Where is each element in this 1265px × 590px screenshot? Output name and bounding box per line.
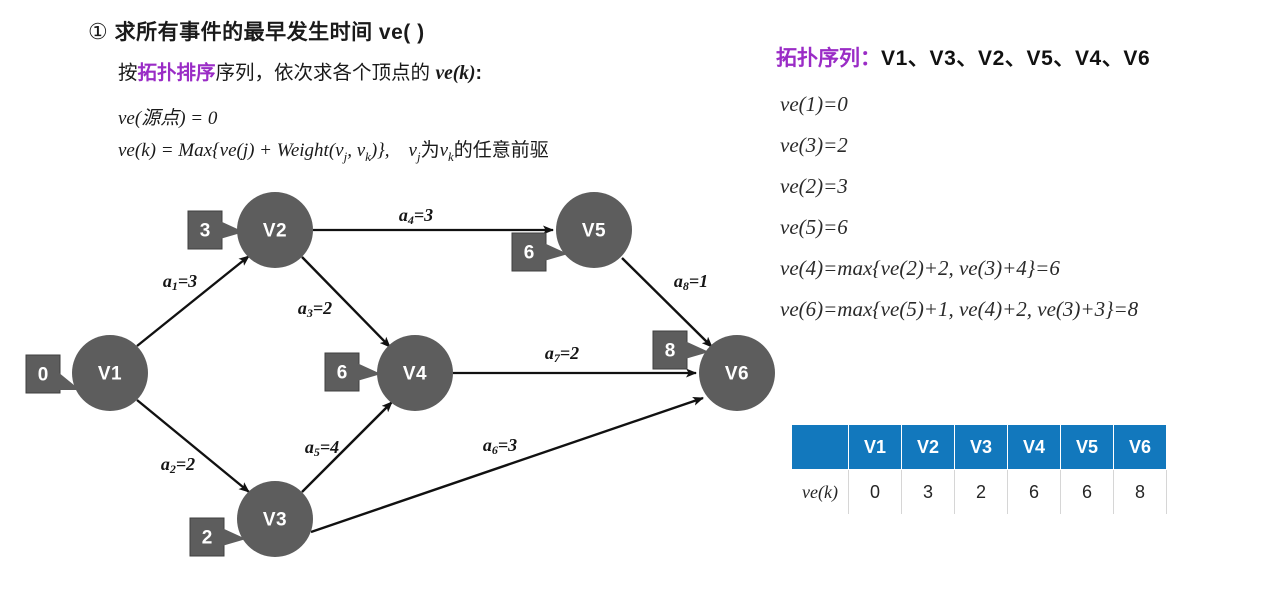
table-cell-ve-v6: 8 <box>1114 470 1167 515</box>
topological-sequence-value: V1、V3、V2、V5、V4、V6 <box>881 47 1150 70</box>
edge-a1 <box>137 256 249 346</box>
edge-label-a7: a7=2 <box>545 343 579 365</box>
graph-nodes: V1V2V3V4V5V6 <box>72 192 775 557</box>
table-cell-ve-v3: 2 <box>955 470 1008 515</box>
callout-v4: 6 <box>325 353 381 391</box>
node-label: V4 <box>403 364 427 385</box>
ve-step-6: ve(6)=max{ve(5)+1, ve(4)+2, ve(3)+3}=8 <box>780 297 1138 322</box>
ve-step-1: ve(1)=0 <box>780 92 848 117</box>
topological-sequence-line: 拓扑序列：V1、V3、V2、V5、V4、V6 <box>776 42 1150 72</box>
callout-v2: 3 <box>188 211 244 249</box>
edge-a2 <box>137 400 249 492</box>
aoe-network-graph: 032668 V1V2V3V4V5V6 a1=3a2=2a3=2a4=3a5=4… <box>0 0 790 590</box>
callout-value: 6 <box>337 363 348 384</box>
table-col-header-v6: V6 <box>1114 425 1167 470</box>
table-col-header-v4: V4 <box>1008 425 1061 470</box>
table-cell-ve-v2: 3 <box>902 470 955 515</box>
table-corner-cell <box>792 425 849 470</box>
graph-node-v4[interactable]: V4 <box>377 335 453 411</box>
node-label: V3 <box>263 510 287 531</box>
ve-values-table: V1V2V3V4V5V6 ve(k) 032668 <box>792 424 1167 514</box>
callout-v1: 0 <box>26 355 80 393</box>
edge-label-a5: a5=4 <box>305 437 339 459</box>
callout-value: 3 <box>200 221 211 242</box>
table-col-header-v5: V5 <box>1061 425 1114 470</box>
callout-value: 8 <box>665 341 676 362</box>
table-row: ve(k) 032668 <box>792 470 1167 515</box>
edge-a6 <box>311 398 703 532</box>
edge-label-a1: a1=3 <box>163 271 197 293</box>
topological-sequence-label: 拓扑序列： <box>776 47 881 70</box>
table-cell-ve-v5: 6 <box>1061 470 1114 515</box>
ve-step-5: ve(4)=max{ve(2)+2, ve(3)+4}=6 <box>780 256 1060 281</box>
node-label: V2 <box>263 221 287 242</box>
graph-node-v1[interactable]: V1 <box>72 335 148 411</box>
node-label: V6 <box>725 364 749 385</box>
table-row-label: ve(k) <box>792 470 849 515</box>
table-header-row: V1V2V3V4V5V6 <box>792 425 1167 470</box>
edge-label-a4: a4=3 <box>399 205 433 227</box>
edge-label-a2: a2=2 <box>161 454 195 476</box>
graph-node-v6[interactable]: V6 <box>699 335 775 411</box>
callout-value: 0 <box>38 365 49 386</box>
ve-step-2: ve(3)=2 <box>780 133 848 158</box>
table-col-header-v1: V1 <box>849 425 902 470</box>
edge-label-a3: a3=2 <box>298 298 332 320</box>
graph-node-v2[interactable]: V2 <box>237 192 313 268</box>
edge-label-a6: a6=3 <box>483 435 517 457</box>
table-col-header-v2: V2 <box>902 425 955 470</box>
graph-node-v3[interactable]: V3 <box>237 481 313 557</box>
callout-value: 2 <box>202 528 213 549</box>
node-label: V1 <box>98 364 122 385</box>
graph-node-v5[interactable]: V5 <box>556 192 632 268</box>
node-label: V5 <box>582 221 606 242</box>
edge-label-a8: a8=1 <box>674 271 708 293</box>
table-col-header-v3: V3 <box>955 425 1008 470</box>
callout-value: 6 <box>524 243 535 264</box>
table-cell-ve-v1: 0 <box>849 470 902 515</box>
ve-step-4: ve(5)=6 <box>780 215 848 240</box>
ve-step-3: ve(2)=3 <box>780 174 848 199</box>
table-cell-ve-v4: 6 <box>1008 470 1061 515</box>
